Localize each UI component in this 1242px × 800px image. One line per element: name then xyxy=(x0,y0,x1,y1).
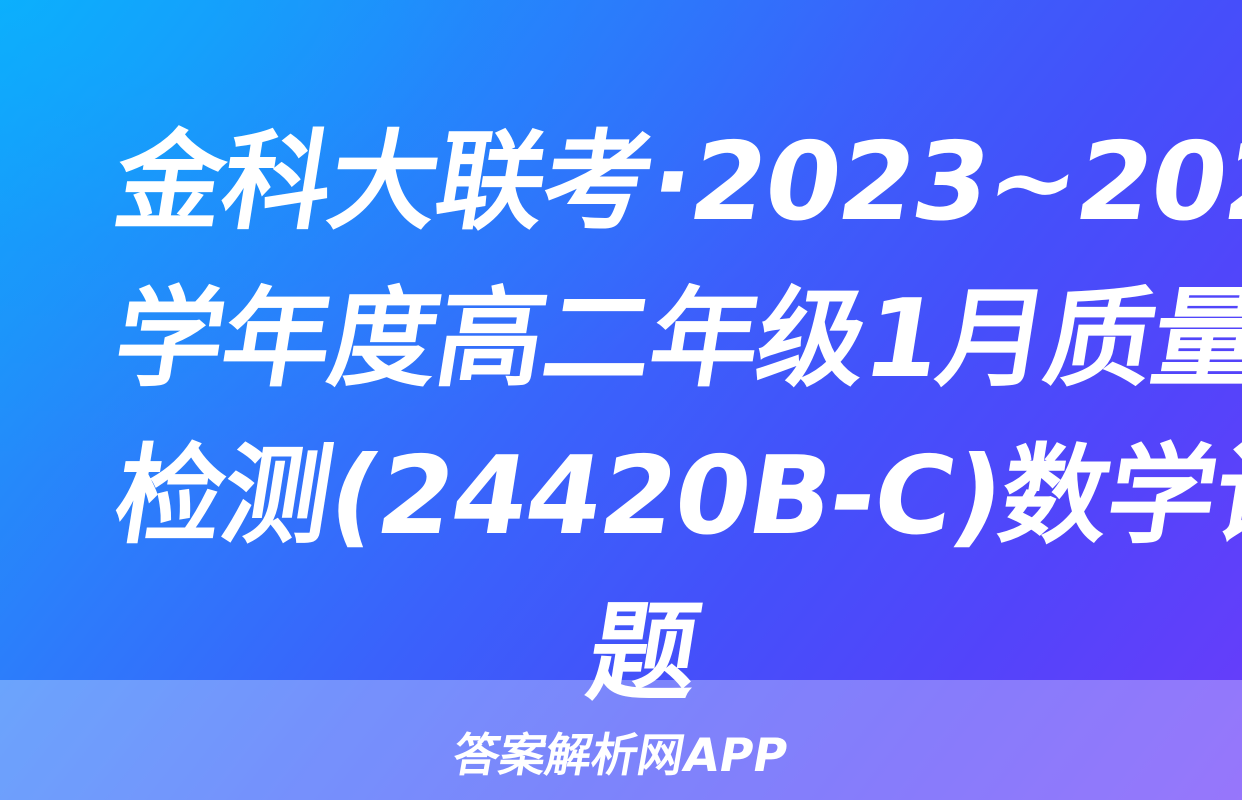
title-line-1: 金科大联考·2023~2024 xyxy=(104,104,1183,261)
app-watermark-label: 答案解析网APP xyxy=(450,730,792,780)
title-line-4: 题 xyxy=(104,575,1183,732)
title-line-3: 检测(24420B-C)数学试 xyxy=(104,418,1183,575)
exam-cover-poster: 金科大联考·2023~2024 学年度高二年级1月质量 检测(24420B-C)… xyxy=(0,0,1242,800)
title-line-2: 学年度高二年级1月质量 xyxy=(104,261,1183,418)
page-title: 金科大联考·2023~2024 学年度高二年级1月质量 检测(24420B-C)… xyxy=(104,104,1158,732)
